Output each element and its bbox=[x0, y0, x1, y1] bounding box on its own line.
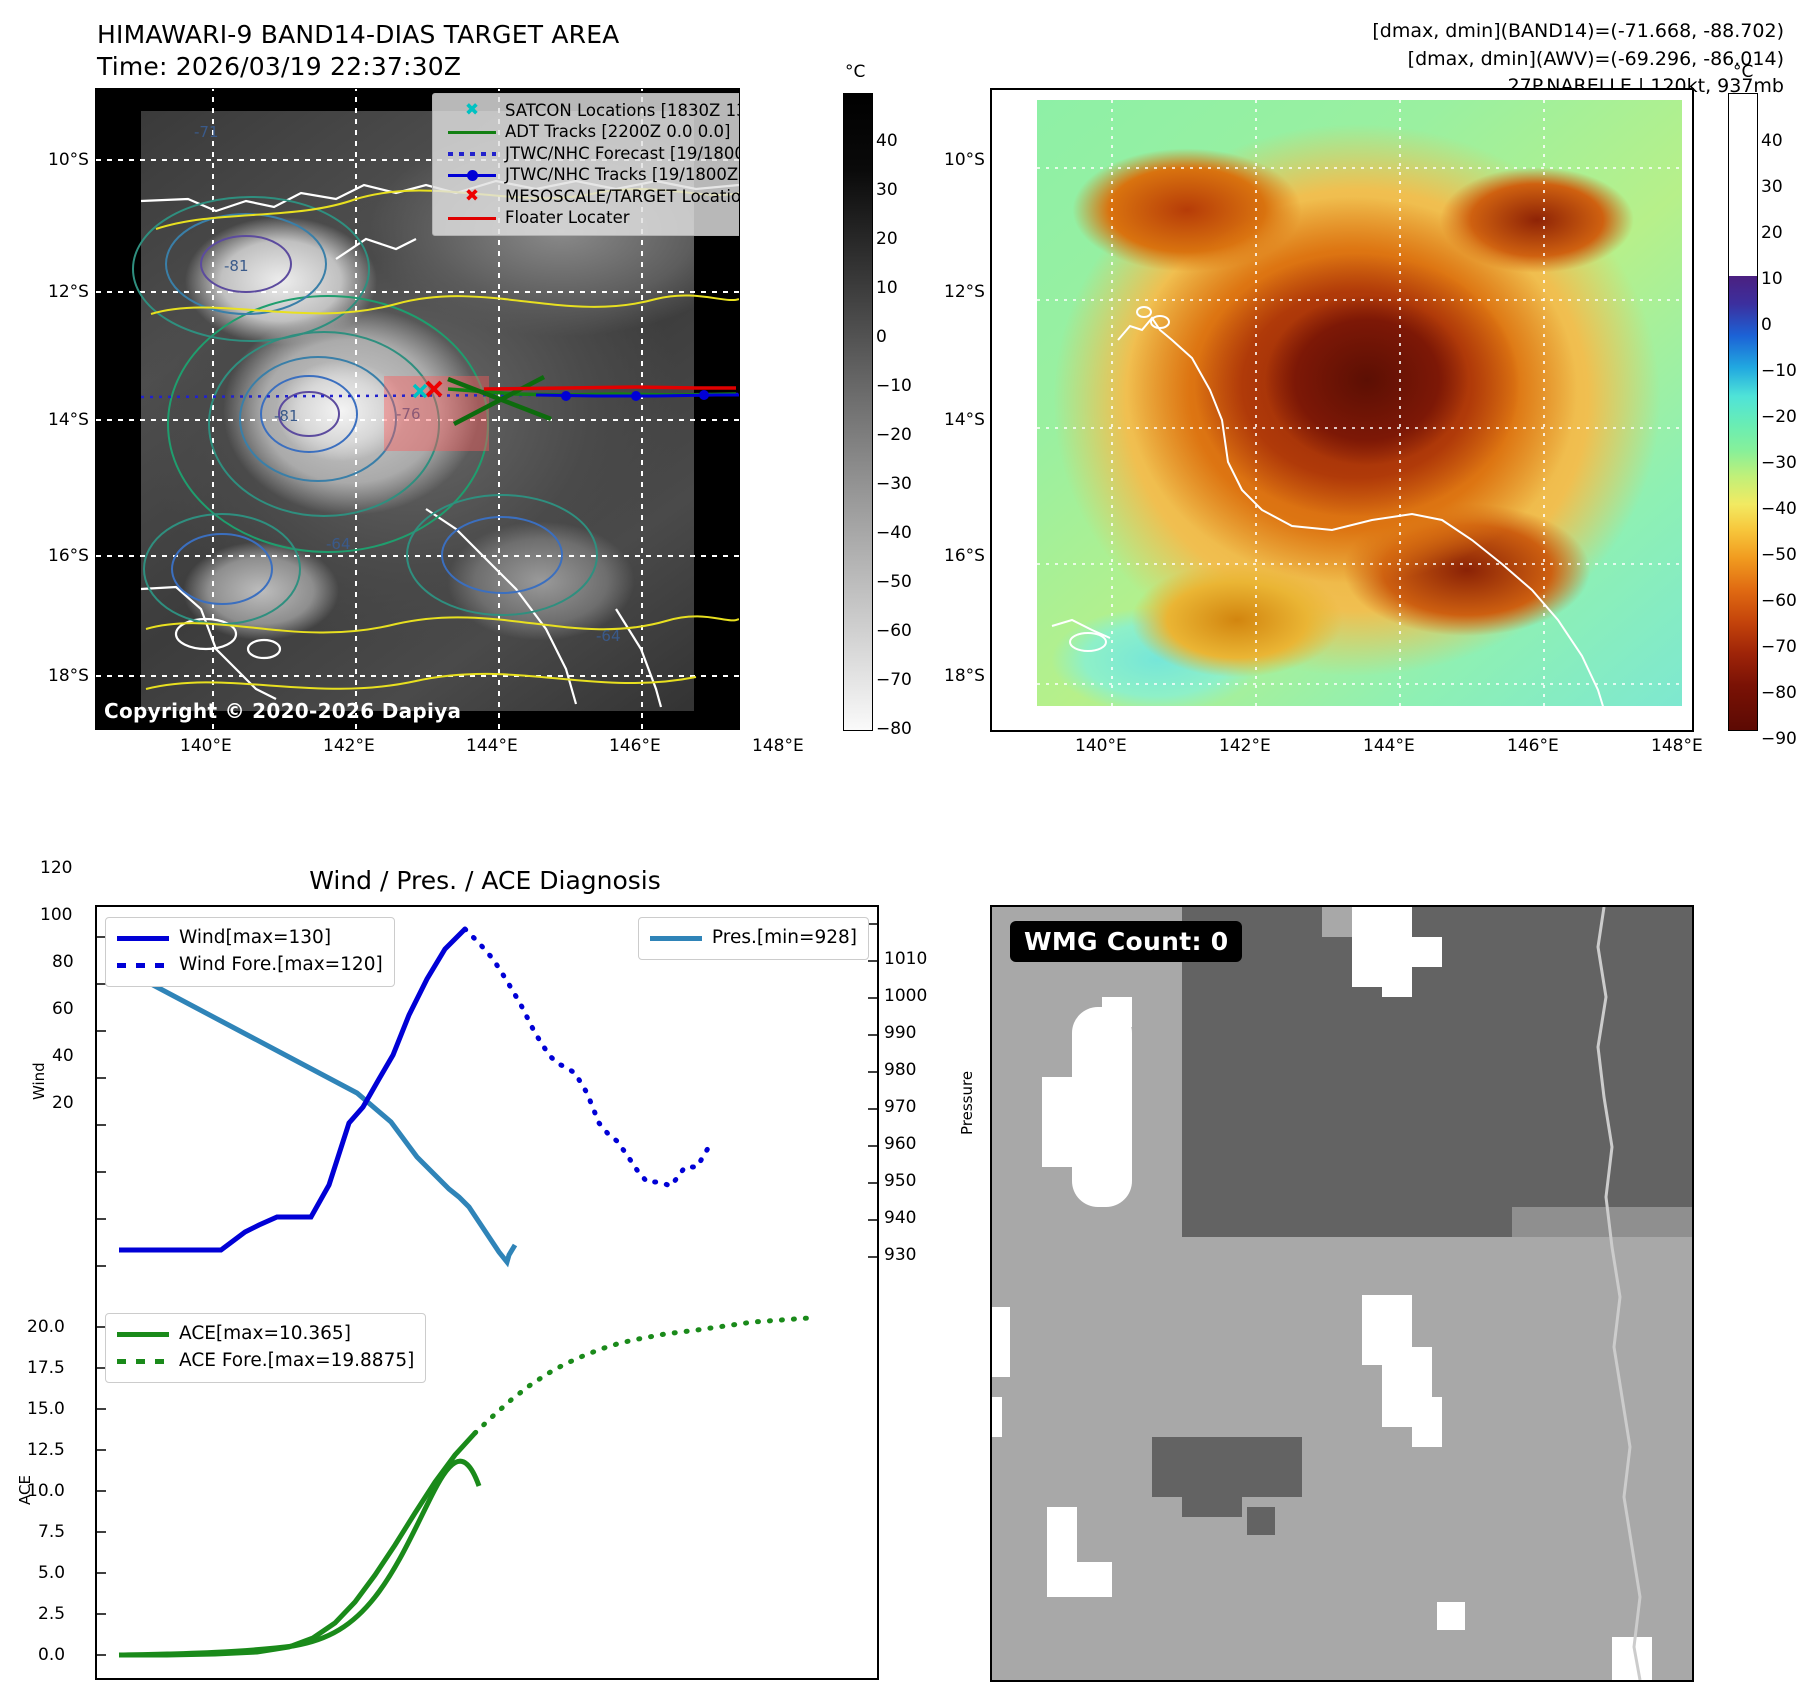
ace-dotted-icon bbox=[117, 1359, 179, 1364]
ace-legend-row-ace: ACE[max=10.365] bbox=[117, 1321, 414, 1348]
wind-ytick-20: 20 bbox=[52, 1093, 74, 1113]
legend-row-adt: ADT Tracks [2200Z 0.0 0.0] bbox=[439, 122, 740, 144]
legend-label-mesoscale: MESOSCALE/TARGET Location bbox=[505, 189, 740, 206]
awv-lat-tick-14s: 14°S bbox=[944, 410, 985, 430]
ir-lon-tick-140e: 140°E bbox=[180, 736, 232, 756]
ace-solid-icon bbox=[117, 1332, 179, 1337]
pressure-legend-row: Pres.[min=928] bbox=[650, 925, 857, 952]
awv-cb-tick-40: 40 bbox=[1761, 131, 1783, 151]
ace-ytick-25: 2.5 bbox=[38, 1604, 65, 1624]
legend-label-adt: ADT Tracks [2200Z 0.0 0.0] bbox=[505, 124, 730, 141]
awv-cb-tick-m90: −90 bbox=[1761, 729, 1797, 749]
ace-ytick-200: 20.0 bbox=[27, 1317, 65, 1337]
awv-cb-tick-m80: −80 bbox=[1761, 683, 1797, 703]
ir-lon-tick-146e: 146°E bbox=[609, 736, 661, 756]
awv-lat-tick-16s: 16°S bbox=[944, 546, 985, 566]
floater-line-icon bbox=[439, 208, 505, 230]
ir-lon-tick-148e: 148°E bbox=[752, 736, 804, 756]
ace-legend: ACE[max=10.365] ACE Fore.[max=19.8875] bbox=[105, 1313, 426, 1383]
ir-lat-tick-18s: 18°S bbox=[48, 666, 89, 686]
legend-label-satcon: SATCON Locations [1830Z 131 930] bbox=[505, 103, 740, 120]
legend-row-floater: Floater Locater bbox=[439, 208, 740, 230]
awv-cb-tick-30: 30 bbox=[1761, 177, 1783, 197]
ace-legend-label: ACE[max=10.365] bbox=[179, 1321, 351, 1348]
wind-ytick-80: 80 bbox=[52, 952, 74, 972]
ir-colorbar-unit: °C bbox=[845, 62, 865, 82]
pressure-legend-label: Pres.[min=928] bbox=[712, 925, 857, 952]
ir-legend: ✖ SATCON Locations [1830Z 131 930] ADT T… bbox=[432, 93, 740, 236]
copyright-text: Copyright © 2020-2026 Dapiya bbox=[104, 699, 461, 723]
wind-solid-icon bbox=[117, 936, 179, 941]
wind-chart-title: Wind / Pres. / ACE Diagnosis bbox=[0, 866, 970, 895]
wmg-count-badge: WMG Count: 0 bbox=[1010, 921, 1242, 962]
pres-ytick-970: 970 bbox=[884, 1097, 916, 1117]
awv-lon-tick-144e: 144°E bbox=[1363, 736, 1415, 756]
ace-ytick-50: 5.0 bbox=[38, 1563, 65, 1583]
awv-cb-tick-m20: −20 bbox=[1761, 407, 1797, 427]
ace-fore-legend-label: ACE Fore.[max=19.8875] bbox=[179, 1348, 414, 1375]
wind-axis-label: Wind bbox=[30, 1062, 48, 1100]
ir-lat-tick-12s: 12°S bbox=[48, 282, 89, 302]
wind-legend-row-wind: Wind[max=130] bbox=[117, 925, 383, 952]
wmg-coastline bbox=[992, 907, 1692, 1680]
ir-lon-tick-142e: 142°E bbox=[323, 736, 375, 756]
ace-chart[interactable]: ACE[max=10.365] ACE Fore.[max=19.8875] bbox=[95, 1303, 879, 1680]
pres-ytick-940: 940 bbox=[884, 1208, 916, 1228]
wind-legend-right: Pres.[min=928] bbox=[638, 917, 869, 960]
awv-cb-tick-m10: −10 bbox=[1761, 361, 1797, 381]
ace-ytick-00: 0.0 bbox=[38, 1645, 65, 1665]
pres-ytick-950: 950 bbox=[884, 1171, 916, 1191]
awv-cb-tick-m30: −30 bbox=[1761, 453, 1797, 473]
legend-label-tracks: JTWC/NHC Tracks [19/1800Z] bbox=[505, 167, 740, 184]
ir-lat-tick-10s: 10°S bbox=[48, 150, 89, 170]
wmg-panel[interactable]: WMG Count: 0 bbox=[990, 905, 1694, 1682]
legend-row-tracks: JTWC/NHC Tracks [19/1800Z] bbox=[439, 165, 740, 187]
dmax-awv-text: [dmax, dmin](AWV)=(-69.296, -86.014) bbox=[1372, 46, 1784, 74]
forecast-dotted-icon bbox=[439, 143, 505, 165]
ir-lon-tick-144e: 144°E bbox=[466, 736, 518, 756]
ace-ytick-125: 12.5 bbox=[27, 1440, 65, 1460]
awv-coastline-overlay bbox=[992, 90, 1692, 730]
wind-ytick-40: 40 bbox=[52, 1046, 74, 1066]
wind-ytick-100: 100 bbox=[40, 905, 72, 925]
ir-cb-tick-m80: −80 bbox=[876, 719, 912, 739]
legend-row-forecast: JTWC/NHC Forecast [19/1800Z] bbox=[439, 143, 740, 165]
wind-ytick-60: 60 bbox=[52, 999, 74, 1019]
ir-lat-tick-14s: 14°S bbox=[48, 410, 89, 430]
pres-ytick-960: 960 bbox=[884, 1134, 916, 1154]
awv-lon-tick-148e: 148°E bbox=[1651, 736, 1703, 756]
ir-satellite-panel[interactable]: -81 -76 -64 -64 -81 -71 bbox=[95, 88, 740, 730]
ir-cb-tick-20: 20 bbox=[876, 229, 898, 249]
ir-cb-tick-40: 40 bbox=[876, 131, 898, 151]
awv-cb-tick-m50: −50 bbox=[1761, 545, 1797, 565]
ir-cb-tick-m40: −40 bbox=[876, 523, 912, 543]
awv-cb-tick-20: 20 bbox=[1761, 223, 1783, 243]
awv-lat-tick-12s: 12°S bbox=[944, 282, 985, 302]
awv-cb-tick-m40: −40 bbox=[1761, 499, 1797, 519]
ir-cb-tick-10: 10 bbox=[876, 278, 898, 298]
ir-cb-tick-m10: −10 bbox=[876, 376, 912, 396]
awv-lat-tick-10s: 10°S bbox=[944, 150, 985, 170]
legend-row-satcon: ✖ SATCON Locations [1830Z 131 930] bbox=[439, 100, 740, 122]
awv-lon-tick-142e: 142°E bbox=[1219, 736, 1271, 756]
pres-ytick-1000: 1000 bbox=[884, 986, 927, 1006]
dmax-band14-text: [dmax, dmin](BAND14)=(-71.668, -88.702) bbox=[1372, 18, 1784, 46]
awv-colorbar bbox=[1728, 93, 1758, 731]
wind-fore-legend-label: Wind Fore.[max=120] bbox=[179, 952, 383, 979]
ir-cb-tick-m30: −30 bbox=[876, 474, 912, 494]
awv-satellite-panel[interactable] bbox=[990, 88, 1694, 732]
awv-cb-tick-0: 0 bbox=[1761, 315, 1772, 335]
ir-cb-tick-0: 0 bbox=[876, 327, 887, 347]
awv-lon-tick-146e: 146°E bbox=[1507, 736, 1559, 756]
wind-legend-row-forecast: Wind Fore.[max=120] bbox=[117, 952, 383, 979]
wind-pressure-chart[interactable]: Wind[max=130] Wind Fore.[max=120] Pres.[… bbox=[95, 905, 879, 1307]
pres-ytick-990: 990 bbox=[884, 1023, 916, 1043]
pressure-axis-label: Pressure bbox=[958, 1071, 976, 1135]
satcon-x-icon: ✖ bbox=[439, 100, 505, 122]
ace-ytick-150: 15.0 bbox=[27, 1399, 65, 1419]
legend-row-mesoscale: ✖ MESOSCALE/TARGET Location bbox=[439, 186, 740, 208]
awv-cb-tick-m70: −70 bbox=[1761, 637, 1797, 657]
wind-ytick-120: 120 bbox=[40, 858, 72, 878]
awv-lat-tick-18s: 18°S bbox=[944, 666, 985, 686]
ir-cb-tick-30: 30 bbox=[876, 180, 898, 200]
page-title: HIMAWARI-9 BAND14-DIAS TARGET AREA bbox=[97, 20, 620, 49]
ir-lat-tick-16s: 16°S bbox=[48, 546, 89, 566]
ace-ytick-75: 7.5 bbox=[38, 1522, 65, 1542]
legend-label-floater: Floater Locater bbox=[505, 210, 630, 227]
ir-cb-tick-m60: −60 bbox=[876, 621, 912, 641]
pres-ytick-930: 930 bbox=[884, 1245, 916, 1265]
ir-cb-tick-m20: −20 bbox=[876, 425, 912, 445]
wind-legend-label: Wind[max=130] bbox=[179, 925, 331, 952]
ace-ytick-175: 17.5 bbox=[27, 1358, 65, 1378]
wind-dotted-icon bbox=[117, 963, 179, 968]
page-subtitle-time: Time: 2026/03/19 22:37:30Z bbox=[97, 52, 461, 81]
awv-colorbar-unit: °C bbox=[1733, 62, 1753, 82]
ace-axis-label: ACE bbox=[16, 1475, 34, 1505]
wind-legend-left: Wind[max=130] Wind Fore.[max=120] bbox=[105, 917, 395, 987]
tracks-line-dot-icon bbox=[439, 165, 505, 187]
ace-legend-row-forecast: ACE Fore.[max=19.8875] bbox=[117, 1348, 414, 1375]
pressure-solid-icon bbox=[650, 936, 712, 941]
ir-cb-tick-m50: −50 bbox=[876, 572, 912, 592]
pres-ytick-980: 980 bbox=[884, 1060, 916, 1080]
awv-lon-tick-140e: 140°E bbox=[1075, 736, 1127, 756]
awv-cb-tick-10: 10 bbox=[1761, 269, 1783, 289]
mesoscale-x-icon: ✖ bbox=[439, 186, 505, 208]
legend-label-forecast: JTWC/NHC Forecast [19/1800Z] bbox=[505, 146, 740, 163]
awv-cb-tick-m60: −60 bbox=[1761, 591, 1797, 611]
pres-ytick-1010: 1010 bbox=[884, 949, 927, 969]
ir-colorbar bbox=[843, 93, 873, 731]
adt-line-icon bbox=[439, 122, 505, 144]
ir-cb-tick-m70: −70 bbox=[876, 670, 912, 690]
figure-root: HIMAWARI-9 BAND14-DIAS TARGET AREA Time:… bbox=[0, 0, 1801, 1690]
